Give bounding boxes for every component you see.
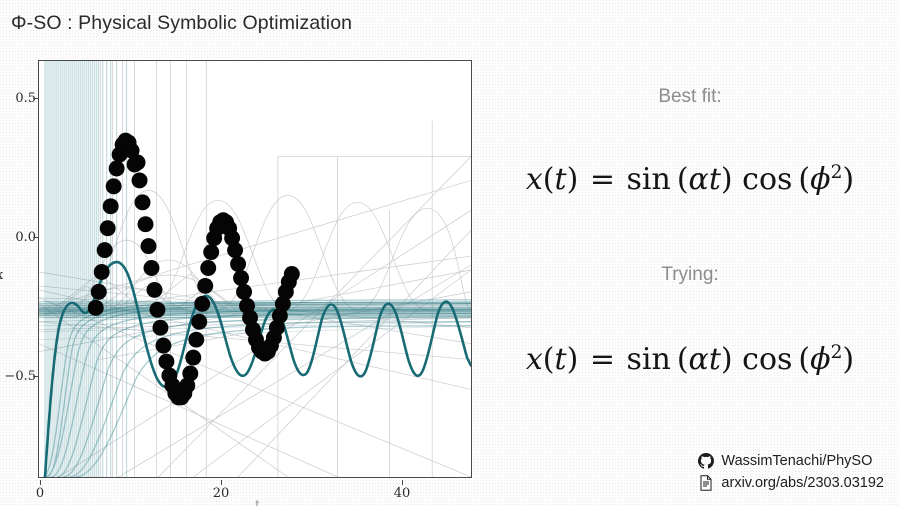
formula-paren: ( xyxy=(543,162,555,197)
x-tick-label: 40 xyxy=(394,486,411,501)
y-tick-label: 0.0 xyxy=(0,230,36,245)
formula-paren: ) xyxy=(842,162,854,197)
page-title: Φ-SO : Physical Symbolic Optimization xyxy=(11,12,352,35)
arxiv-link-text[interactable]: arxiv.org/abs/2303.03192 xyxy=(721,475,884,491)
formula-paren: ) xyxy=(721,162,733,197)
formula-paren: ( xyxy=(671,342,689,377)
y-tick-label: −0.5 xyxy=(0,369,36,384)
formula-exponent: 2 xyxy=(831,342,843,363)
formula-paren: ( xyxy=(671,162,689,197)
formula-alpha-symbol: α xyxy=(689,162,709,197)
formula-fn-sin: sin xyxy=(627,342,671,377)
formula-lhs-var: x xyxy=(526,342,543,377)
x-tick-label: 0 xyxy=(36,486,44,501)
optimization-plot-panel: 0.5 0.0 −0.5 x xyxy=(0,52,480,506)
document-icon xyxy=(698,475,714,491)
formula-lhs-arg: t xyxy=(555,342,567,377)
x-tick-mark xyxy=(40,480,41,485)
info-panel: Best fit: x(t) = sin (αt) cos (ϕ2) Tryin… xyxy=(480,52,900,506)
github-link-text[interactable]: WassimTenachi/PhySO xyxy=(721,453,872,469)
y-axis: 0.5 0.0 −0.5 xyxy=(0,60,36,478)
formula-paren: ( xyxy=(792,342,810,377)
formula-paren: ) xyxy=(567,342,579,377)
formula-fn-cos: cos xyxy=(742,162,792,197)
arxiv-link-row[interactable]: arxiv.org/abs/2303.03192 xyxy=(698,472,884,494)
formula-exponent: 2 xyxy=(831,162,843,183)
x-tick-label: 20 xyxy=(213,486,230,501)
formula-paren: ) xyxy=(842,342,854,377)
formula-lhs-arg: t xyxy=(555,162,567,197)
formula-paren: ( xyxy=(792,162,810,197)
explored-candidates-bundle xyxy=(45,61,127,477)
plot-frame xyxy=(38,60,472,478)
plot-canvas xyxy=(39,61,471,477)
formula-paren: ) xyxy=(567,162,579,197)
formula-equals: = xyxy=(588,162,617,197)
formula-equals: = xyxy=(588,342,617,377)
trying-formula: x(t) = sin (αt) cos (ϕ2) xyxy=(480,342,900,377)
footer-links: WassimTenachi/PhySO arxiv.org/abs/2303.0… xyxy=(698,450,884,494)
github-link-row[interactable]: WassimTenachi/PhySO xyxy=(698,450,884,472)
formula-paren: ) xyxy=(721,342,733,377)
formula-phi-symbol: ϕ xyxy=(810,342,830,377)
formula-fn-cos: cos xyxy=(742,342,792,377)
github-icon xyxy=(698,453,714,469)
formula-alpha-symbol: α xyxy=(689,342,709,377)
best-fit-formula: x(t) = sin (αt) cos (ϕ2) xyxy=(480,162,900,197)
x-axis-title: t xyxy=(255,498,260,506)
formula-fn-sin: sin xyxy=(627,162,671,197)
x-tick-mark xyxy=(221,480,222,485)
formula-paren: ( xyxy=(543,342,555,377)
best-fit-label: Best fit: xyxy=(480,86,900,108)
x-tick-mark xyxy=(402,480,403,485)
trying-label: Trying: xyxy=(480,264,900,286)
formula-time-var: t xyxy=(709,342,721,377)
formula-phi-symbol: ϕ xyxy=(810,162,830,197)
y-axis-title: x xyxy=(0,268,3,283)
formula-time-var: t xyxy=(709,162,721,197)
formula-lhs-var: x xyxy=(526,162,543,197)
y-tick-label: 0.5 xyxy=(0,91,36,106)
